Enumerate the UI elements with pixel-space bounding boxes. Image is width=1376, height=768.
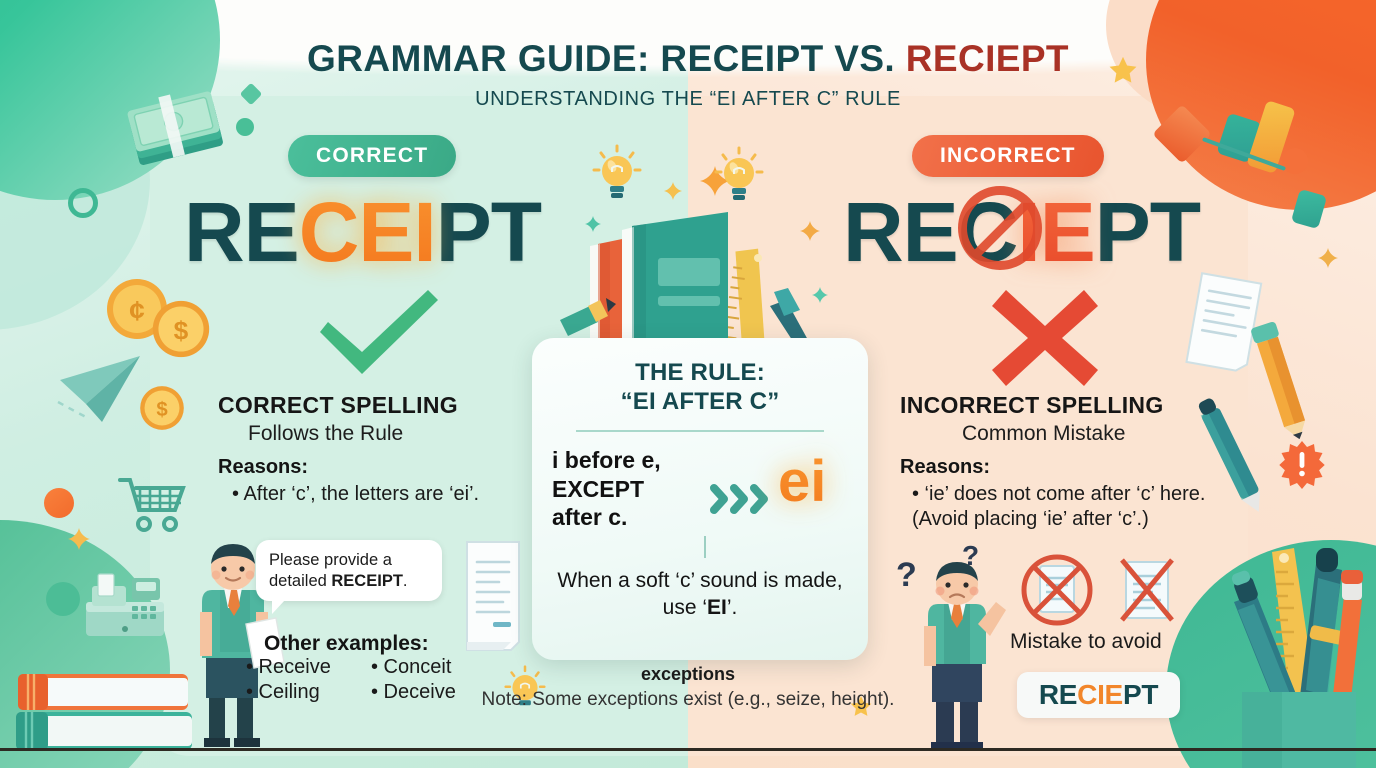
speech-bubble-word: RECEIPT	[331, 572, 403, 590]
speech-bubble-post: .	[403, 572, 408, 590]
rule-bottom-strong: EI	[707, 596, 727, 619]
left-examples-label: Other examples:	[264, 632, 429, 656]
receipt-paper-icon	[455, 538, 531, 656]
decor-dot-orange-1	[44, 488, 74, 518]
right-heading: INCORRECT SPELLING	[900, 392, 1164, 419]
rule-bottom-post: ’.	[727, 596, 738, 619]
exceptions-note: Note: Some exceptions exist (e.g., seize…	[0, 688, 1376, 713]
cash-register-icon	[82, 572, 168, 642]
rule-mnemonic-line3: after c.	[552, 503, 702, 532]
stationery-cluster-icon	[560, 196, 820, 352]
badge-correct[interactable]: CORRECT	[288, 135, 456, 177]
page-title-main: GRAMMAR GUIDE: RECEIPT VS.	[307, 38, 906, 79]
page-title: GRAMMAR GUIDE: RECEIPT VS. RECIEPT	[0, 38, 1376, 80]
shopping-cart-icon	[118, 474, 190, 536]
gold-coin-icon: $	[150, 298, 212, 360]
baseline-rule	[0, 748, 1376, 751]
correct-word-accent: CEI	[299, 185, 436, 279]
rule-card-bottom-text: When a soft ‘c’ sound is made, use ‘EI’.	[546, 568, 854, 622]
decor-dot-teal-1	[236, 118, 254, 136]
rule-mnemonic: i before e, EXCEPT after c.	[552, 446, 702, 532]
decor-dot-teal-2	[46, 582, 80, 616]
decor-ring-teal	[68, 188, 98, 218]
paper-airplane-icon	[56, 354, 142, 424]
check-mark-icon	[310, 286, 446, 378]
exceptions-heading: exceptions	[0, 664, 1376, 685]
chevron-right-triple-icon	[708, 480, 780, 518]
sparkle-icon	[68, 528, 90, 550]
prohibition-sign-icon	[958, 186, 1042, 270]
rule-mnemonic-line1: i before e,	[552, 446, 702, 475]
crossed-document-prohibited-icon	[1018, 552, 1096, 630]
rule-card-title-line2: “EI AFTER C”	[532, 387, 868, 416]
badge-incorrect[interactable]: INCORRECT	[912, 135, 1104, 177]
cross-mark-icon	[988, 286, 1102, 390]
incorrect-word-part3: PT	[1095, 185, 1200, 279]
rule-card-title: THE RULE: “EI AFTER C”	[532, 358, 868, 417]
left-heading: CORRECT SPELLING	[218, 392, 458, 419]
infographic-canvas: ¢ $ $	[0, 0, 1376, 768]
left-subheading: Follows the Rule	[248, 422, 403, 446]
svg-text:¢: ¢	[129, 295, 145, 326]
gold-coin-icon: $	[138, 384, 186, 432]
mistake-to-avoid-label: Mistake to avoid	[1010, 630, 1162, 654]
correct-word-part1: RE	[184, 185, 299, 279]
left-reasons-label: Reasons:	[218, 456, 308, 479]
left-reason-bullet: • After ‘c’, the letters are ‘ei’.	[232, 482, 482, 507]
rule-card-tick	[704, 536, 706, 558]
rule-card-title-line1: THE RULE:	[532, 358, 868, 387]
correct-word-part3: PT	[436, 185, 541, 279]
svg-text:$: $	[174, 315, 189, 345]
rule-mnemonic-line2: EXCEPT	[552, 475, 702, 504]
rule-card: THE RULE: “EI AFTER C” i before e, EXCEP…	[532, 338, 868, 660]
right-reason-bullet: • ‘ie’ does not come after ‘c’ here. (Av…	[912, 482, 1242, 533]
sparkle-icon	[1318, 248, 1338, 268]
right-subheading: Common Mistake	[962, 422, 1125, 446]
rule-result-ei: ei	[778, 448, 826, 515]
svg-text:$: $	[156, 399, 168, 421]
rule-card-divider	[576, 430, 824, 432]
decor-dot-orange-2	[1282, 148, 1308, 174]
question-mark-icon: ?	[896, 556, 917, 595]
crossed-document-icon	[1108, 552, 1186, 630]
right-reasons-label: Reasons:	[900, 456, 990, 479]
page-subtitle: UNDERSTANDING THE “EI AFTER C” RULE	[0, 88, 1376, 111]
speech-bubble: Please provide a detailed RECEIPT.	[256, 540, 442, 601]
correct-word: RECEIPT	[184, 184, 541, 281]
pen-cup-icon	[1212, 524, 1376, 768]
rule-bottom-pre: When a soft ‘c’ sound is made, use ‘	[557, 569, 842, 619]
page-title-misspelling: RECIEPT	[906, 38, 1069, 79]
question-mark-icon: ?	[962, 540, 979, 572]
